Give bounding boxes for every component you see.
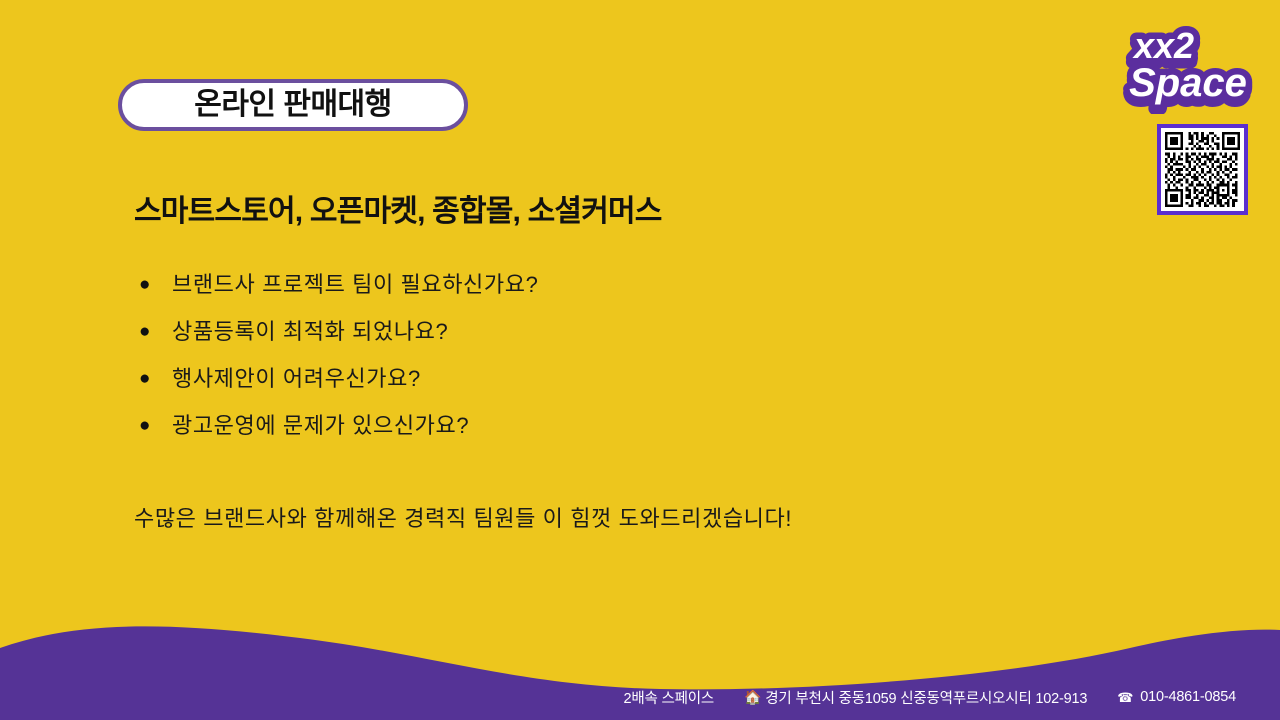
footer-phone[interactable]: ☎ 010-4861-0854 [1117, 689, 1236, 705]
bullet-dot-icon: ● [134, 272, 172, 298]
title-pill: 온라인 판매대행 [118, 79, 468, 131]
list-item: ● 상품등록이 최적화 되었나요? [134, 319, 994, 366]
slide-canvas: 온라인 판매대행 스마트스토어, 오픈마켓, 종합몰, 소셜커머스 ● 브랜드사… [0, 0, 1280, 720]
page-title: 온라인 판매대행 [194, 90, 392, 120]
logo-bottom-text: Space [1129, 61, 1247, 105]
bullet-dot-icon: ● [134, 366, 172, 392]
brand-logo: xx2 Space xx2 xx2 Space Space [1118, 14, 1258, 114]
telephone-icon: ☎ [1117, 691, 1133, 704]
bullet-dot-icon: ● [134, 319, 172, 345]
list-item: ● 브랜드사 프로젝트 팀이 필요하신가요? [134, 272, 994, 319]
footer-address: 🏠 경기 부천시 중동1059 신중동역푸르시오시티 102-913 [744, 687, 1087, 708]
list-item-label: 브랜드사 프로젝트 팀이 필요하신가요? [172, 272, 538, 298]
footer-phone-number: 010-4861-0854 [1140, 689, 1236, 705]
footer-address-text: 경기 부천시 중동1059 신중동역푸르시오시티 102-913 [765, 687, 1087, 708]
footer-bar: 2배속 스페이스 🏠 경기 부천시 중동1059 신중동역푸르시오시티 102-… [0, 674, 1280, 720]
closing-paragraph: 수많은 브랜드사와 함께해온 경력직 팀원들 이 힘껏 도와드리겠습니다! [134, 495, 974, 542]
list-item-label: 행사제안이 어려우신가요? [172, 366, 421, 392]
footer-company-name: 2배속 스페이스 [623, 687, 714, 708]
list-item-label: 광고운영에 문제가 있으신가요? [172, 413, 469, 439]
logo-top-text: xx2 [1132, 25, 1194, 66]
list-item: ● 광고운영에 문제가 있으신가요? [134, 413, 994, 460]
qr-code[interactable] [1157, 124, 1248, 215]
house-icon: 🏠 [744, 690, 761, 704]
list-item: ● 행사제안이 어려우신가요? [134, 366, 994, 413]
list-item-label: 상품등록이 최적화 되었나요? [172, 319, 448, 345]
subtitle-heading: 스마트스토어, 오픈마켓, 종합몰, 소셜커머스 [134, 186, 662, 230]
bullet-dot-icon: ● [134, 413, 172, 439]
benefit-question-list: ● 브랜드사 프로젝트 팀이 필요하신가요? ● 상품등록이 최적화 되었나요?… [134, 272, 994, 460]
